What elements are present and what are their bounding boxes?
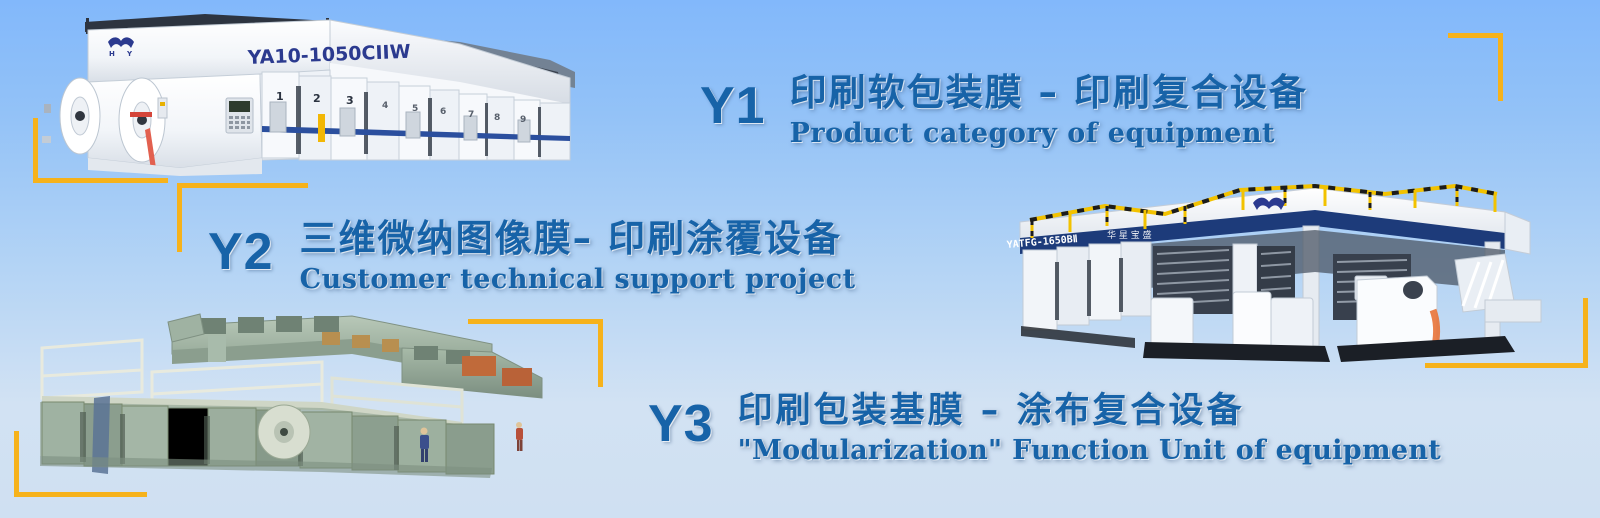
bracket-segment-vertical — [14, 431, 19, 497]
svg-text:华 星 宝 盛: 华 星 宝 盛 — [1107, 229, 1152, 241]
bracket-segment-vertical — [177, 183, 182, 252]
bracket-top-right — [1448, 33, 1508, 103]
machine-coating-laminating: 华 星 宝 盛 YATFG-1650BⅡ — [985, 150, 1545, 370]
svg-text:5: 5 — [412, 104, 418, 114]
row-code-y3: Y3 — [648, 394, 714, 454]
row-title-block-y1: 印刷软包装膜 – 印刷复合设备 Product category of equi… — [790, 62, 1308, 149]
row-y3: Y3 印刷包装基膜 – 涂布复合设备 "Modularization" Func… — [648, 382, 1441, 466]
row-title-block-y3: 印刷包装基膜 – 涂布复合设备 "Modularization" Functio… — [738, 382, 1441, 466]
bracket-segment-vertical — [598, 319, 603, 387]
equipment-banner: 123 456 789 H Y YA10-1050CIIW — [0, 0, 1600, 518]
svg-text:2: 2 — [313, 92, 321, 105]
svg-text:7: 7 — [468, 110, 474, 120]
bracket-segment-horizontal — [1448, 33, 1503, 38]
row-title-cn-y1: 印刷软包装膜 – 印刷复合设备 — [790, 62, 1308, 116]
row-y2: Y2 三维微纳图像膜– 印刷涂覆设备 Customer technical su… — [208, 208, 856, 295]
row-title-cn-y2: 三维微纳图像膜– 印刷涂覆设备 — [300, 208, 856, 262]
svg-text:6: 6 — [440, 107, 446, 117]
row-title-block-y2: 三维微纳图像膜– 印刷涂覆设备 Customer technical suppo… — [300, 208, 856, 295]
row-title-cn-y3: 印刷包装基膜 – 涂布复合设备 — [738, 382, 1441, 433]
row-y1: Y1 印刷软包装膜 – 印刷复合设备 Product category of e… — [700, 62, 1308, 149]
bracket-segment-horizontal — [14, 492, 147, 497]
bracket-segment-vertical — [1498, 33, 1503, 101]
row-code-y2: Y2 — [208, 222, 274, 282]
bracket-segment-vertical — [1583, 298, 1588, 368]
svg-text:4: 4 — [382, 101, 388, 111]
svg-text:9: 9 — [520, 115, 526, 125]
row-title-en-y1: Product category of equipment — [790, 118, 1308, 149]
svg-text:1: 1 — [276, 90, 284, 103]
svg-text:3: 3 — [346, 94, 354, 107]
machine-base-film-line — [22, 306, 582, 481]
bracket-segment-horizontal — [33, 178, 168, 183]
svg-text:Y: Y — [126, 50, 133, 58]
svg-text:8: 8 — [494, 113, 500, 123]
row-title-en-y2: Customer technical support project — [300, 264, 856, 295]
bracket-segment-horizontal — [177, 183, 308, 188]
row-code-y1: Y1 — [700, 76, 766, 136]
row-title-en-y3: "Modularization" Function Unit of equipm… — [738, 435, 1441, 466]
machine-gravure-printing-press: 123 456 789 H Y YA10-1050CIIW — [30, 8, 600, 176]
svg-text:H: H — [109, 50, 115, 58]
